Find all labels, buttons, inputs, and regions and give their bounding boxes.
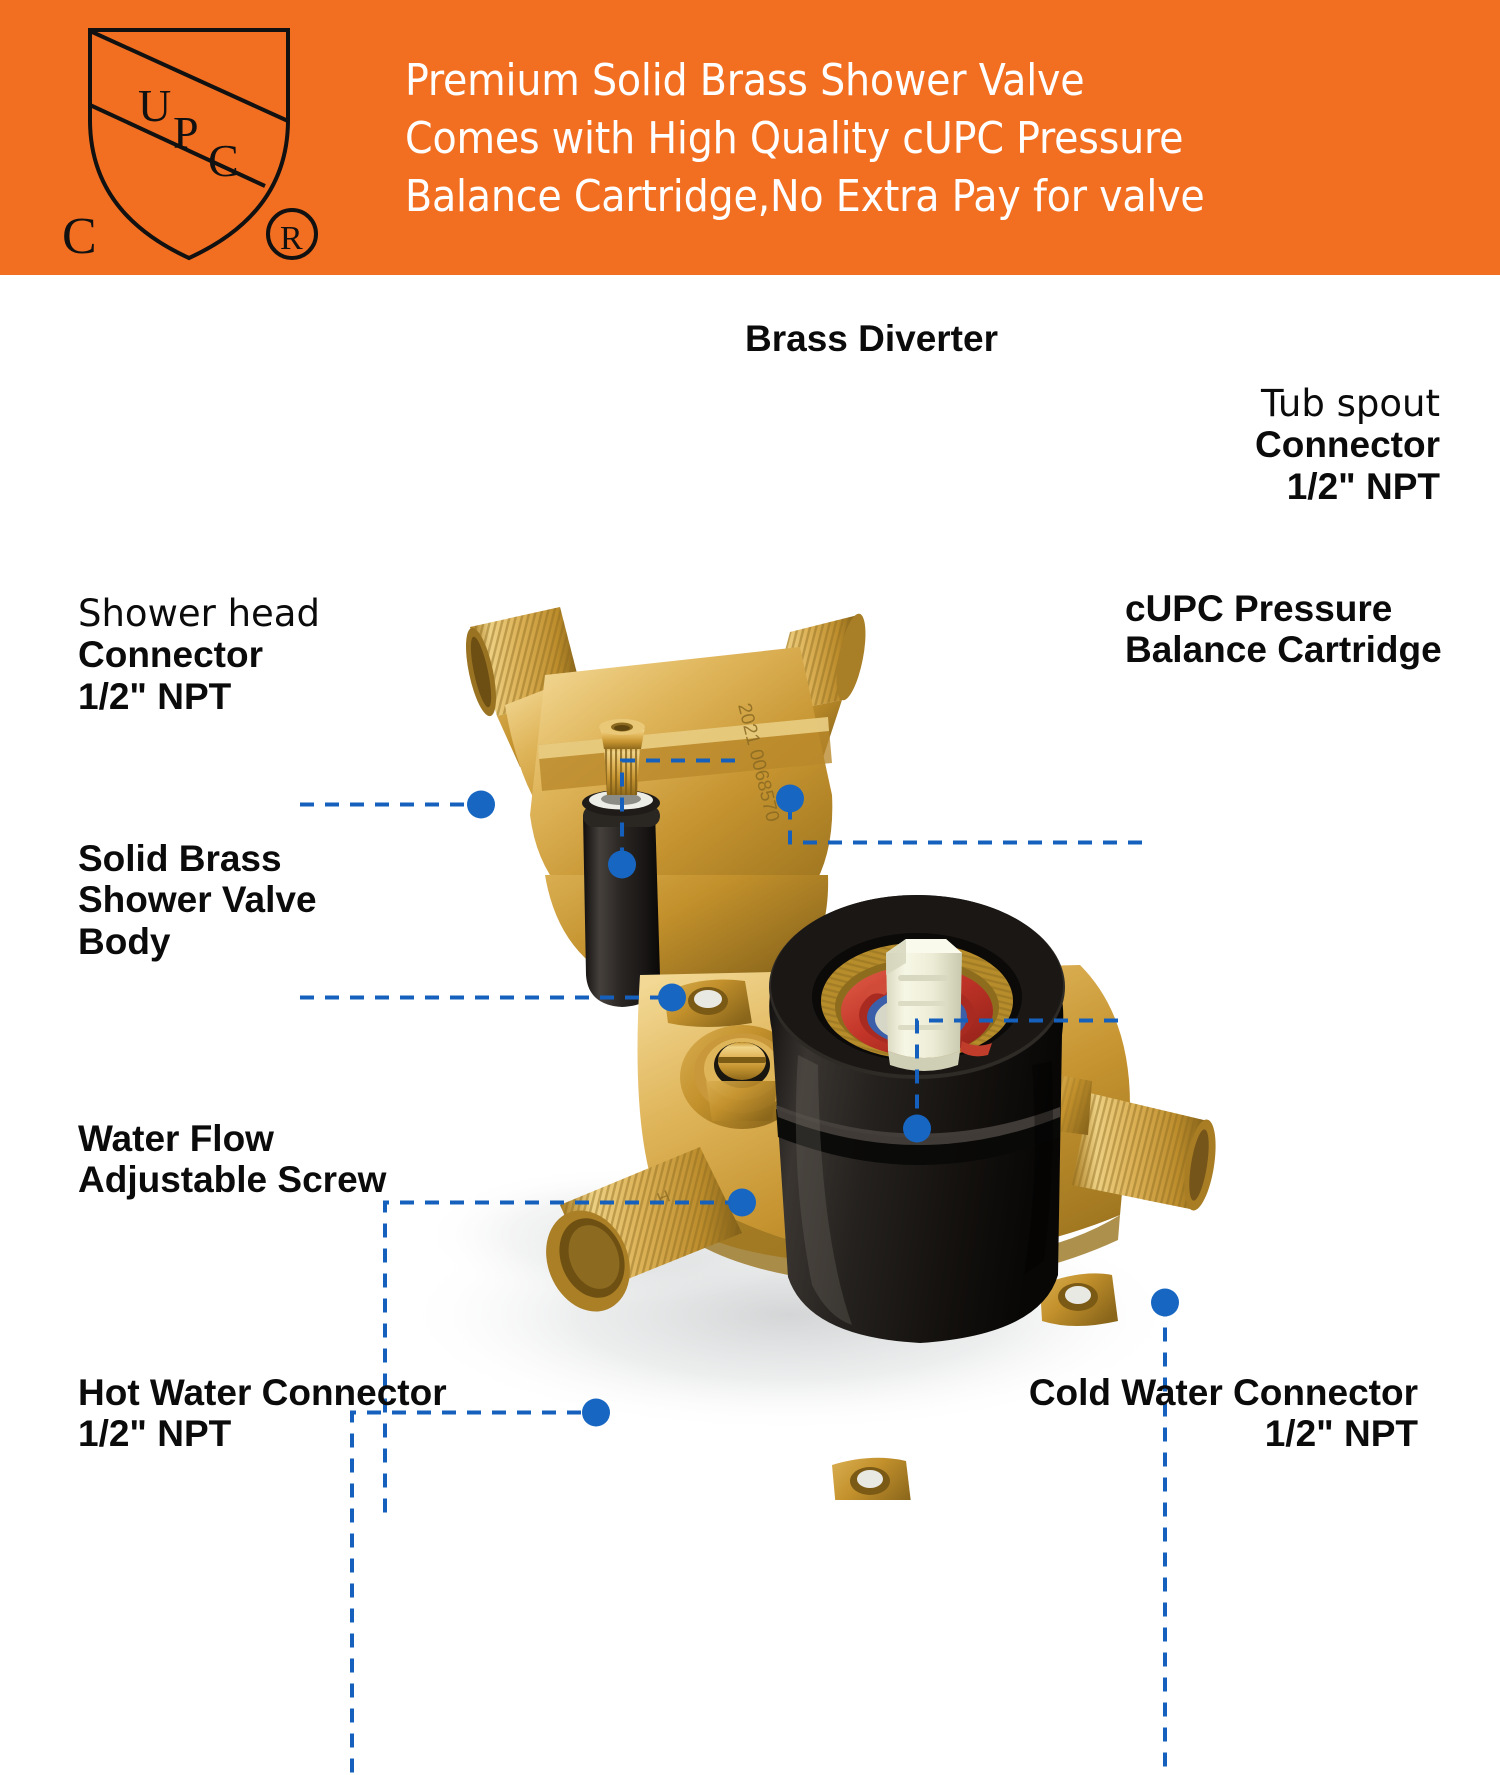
logo-prefix-c: C	[62, 208, 97, 265]
banner-line-3: Balance Cartridge,No Extra Pay for valve	[405, 168, 1475, 226]
callout-tub-spout: Tub spout Connector 1/2" NPT	[1150, 383, 1440, 507]
shield-letter-c: C	[208, 135, 239, 186]
callout-cupc-cartridge: cUPC Pressure Balance Cartridge	[1125, 588, 1485, 671]
callout-hot-water: Hot Water Connector 1/2" NPT	[78, 1372, 447, 1455]
callout-valve-body: Solid Brass Shower Valve Body	[78, 838, 317, 962]
cartridge-stem	[886, 939, 962, 1071]
banner-line-1: Premium Solid Brass Shower Valve	[405, 52, 1475, 110]
callout-flow-screw-line-2: Adjustable Screw	[78, 1159, 386, 1200]
callout-cold-water-npt: 1/2" NPT	[1018, 1413, 1418, 1454]
header-banner: U P C C R Premium Solid Brass Shower Val…	[0, 0, 1500, 275]
banner-headline: Premium Solid Brass Shower Valve Comes w…	[405, 52, 1475, 226]
callout-cupc-line-1: cUPC Pressure	[1125, 588, 1485, 629]
callout-valve-body-line-2: Shower Valve	[78, 879, 317, 920]
callout-tub-spout-line-1: Tub spout	[1150, 383, 1440, 424]
shield-letter-p: P	[173, 107, 199, 158]
cupc-logo: U P C C R	[60, 8, 330, 268]
callout-brass-diverter-line-1: Brass Diverter	[745, 318, 998, 359]
cupc-cartridge-assembly	[769, 895, 1065, 1343]
callout-hot-water-npt: 1/2" NPT	[78, 1413, 447, 1454]
mounting-tab-bottom	[832, 1458, 912, 1500]
banner-line-2: Comes with High Quality cUPC Pressure	[405, 110, 1475, 168]
shield-letter-u: U	[138, 80, 171, 131]
callout-flow-screw: Water Flow Adjustable Screw	[78, 1118, 386, 1201]
callout-valve-body-line-1: Solid Brass	[78, 838, 317, 879]
callout-flow-screw-line-1: Water Flow	[78, 1118, 386, 1159]
callout-shower-head-line-2: Connector	[78, 634, 320, 675]
callout-tub-spout-npt: 1/2" NPT	[1150, 466, 1440, 507]
callout-cold-water: Cold Water Connector 1/2" NPT	[1018, 1372, 1418, 1455]
callout-shower-head-line-1: Shower head	[78, 593, 320, 634]
callout-cold-water-line-1: Cold Water Connector	[1018, 1372, 1418, 1413]
callout-shower-head-npt: 1/2" NPT	[78, 676, 320, 717]
registered-r-letter: R	[280, 220, 303, 257]
callout-tub-spout-line-2: Connector	[1150, 424, 1440, 465]
cupc-shield-icon: U P C C R	[60, 8, 330, 268]
callout-valve-body-line-3: Body	[78, 921, 317, 962]
callout-brass-diverter: Brass Diverter	[745, 318, 998, 359]
callout-cupc-line-2: Balance Cartridge	[1125, 629, 1485, 670]
callout-hot-water-line-1: Hot Water Connector	[78, 1372, 447, 1413]
callout-shower-head: Shower head Connector 1/2" NPT	[78, 593, 320, 717]
